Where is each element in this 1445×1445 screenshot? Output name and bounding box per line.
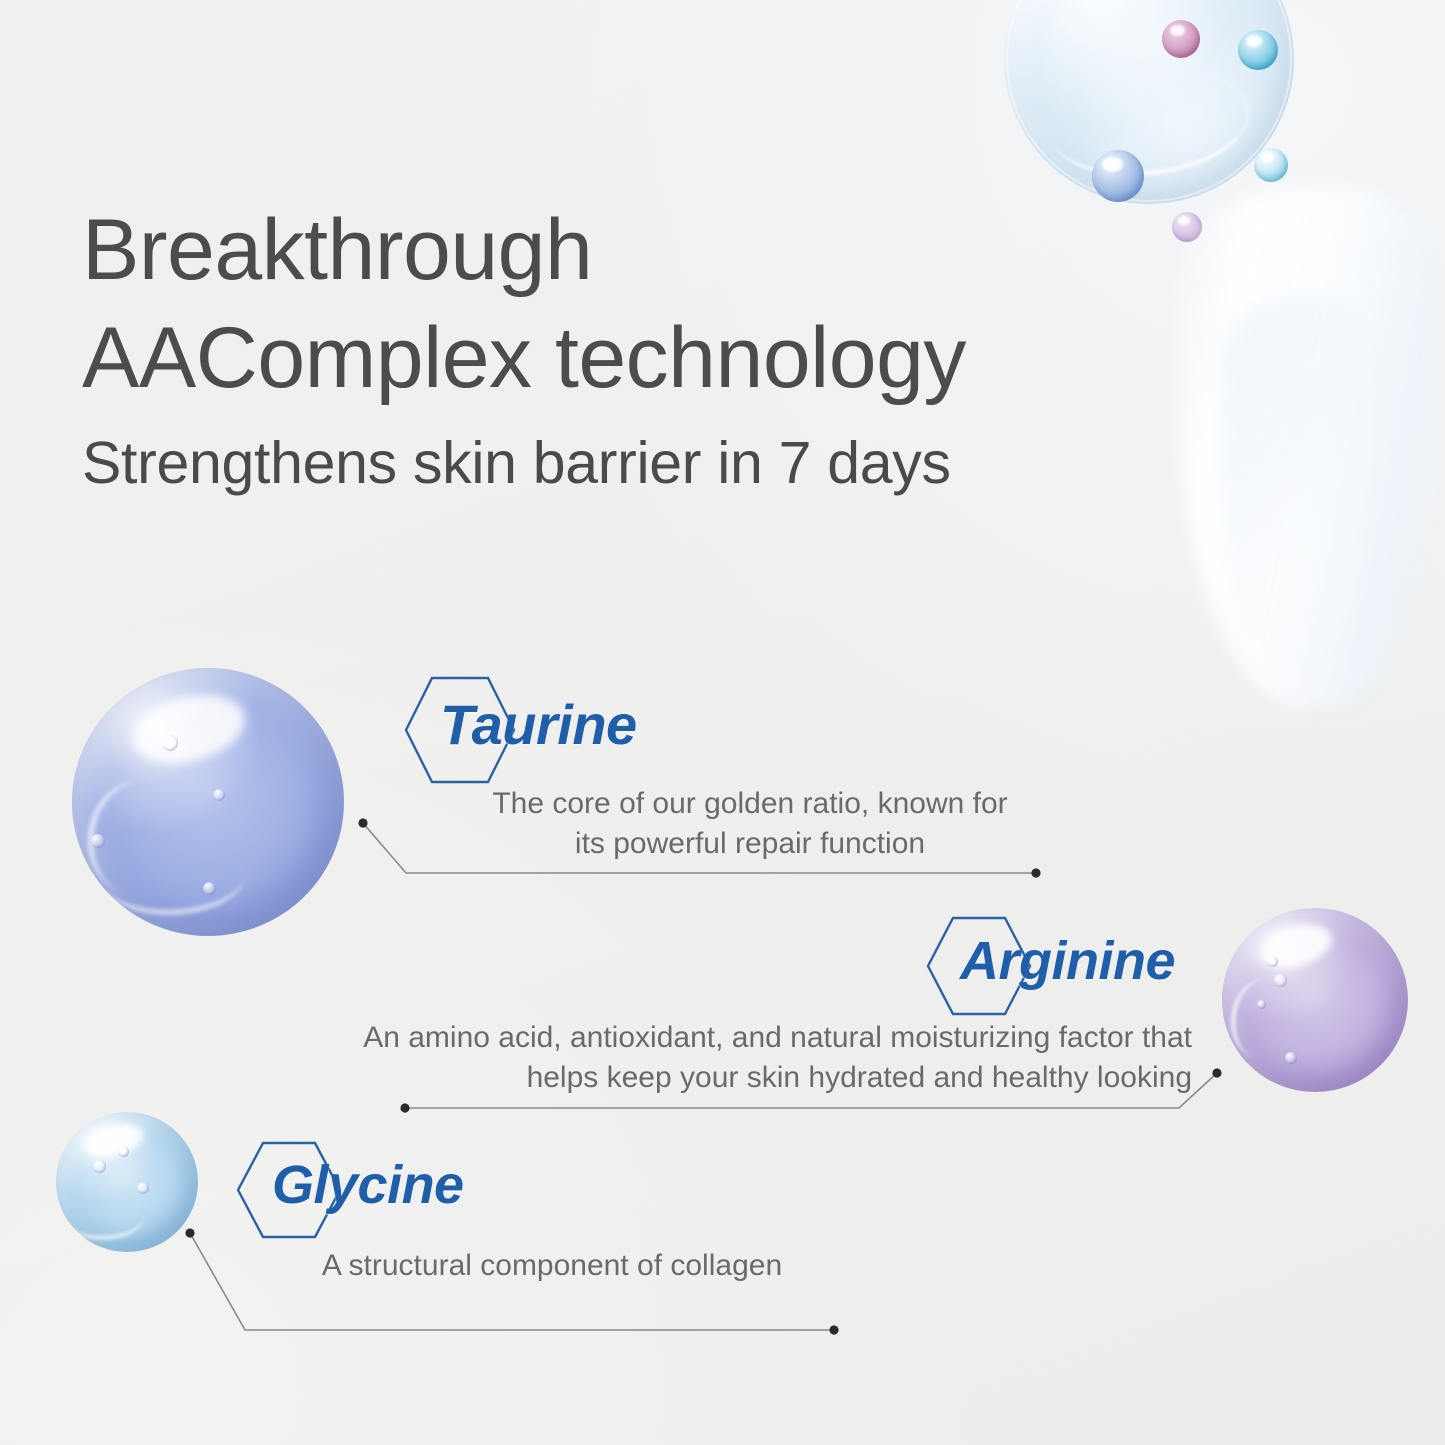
ingredient-name-taurine: Taurine (440, 692, 637, 757)
headline-line-2: AAComplex technology (82, 304, 1262, 412)
connector-line-glycine (178, 1220, 858, 1350)
subheadline: Strengthens skin barrier in 7 days (82, 428, 951, 499)
ingredient-name-arginine: Arginine (960, 930, 1175, 992)
light-cyan-droplet-icon (1254, 148, 1288, 182)
pink-droplet-icon (1162, 20, 1200, 58)
cyan-gel-sphere (56, 1112, 198, 1252)
connector-line-taurine (352, 810, 1052, 890)
blue-droplet-icon (1092, 150, 1144, 202)
headline-block: Breakthrough AAComplex technology (82, 196, 1262, 413)
purple-gel-sphere (1222, 908, 1408, 1092)
headline-line-1: Breakthrough (82, 196, 1262, 304)
ingredient-name-glycine: Glycine (272, 1154, 464, 1216)
marketing-graphic: Breakthrough AAComplex technology Streng… (0, 0, 1445, 1445)
connector-line-arginine (390, 1060, 1230, 1130)
cyan-droplet-icon (1238, 30, 1278, 70)
periwinkle-gel-sphere (72, 668, 344, 936)
